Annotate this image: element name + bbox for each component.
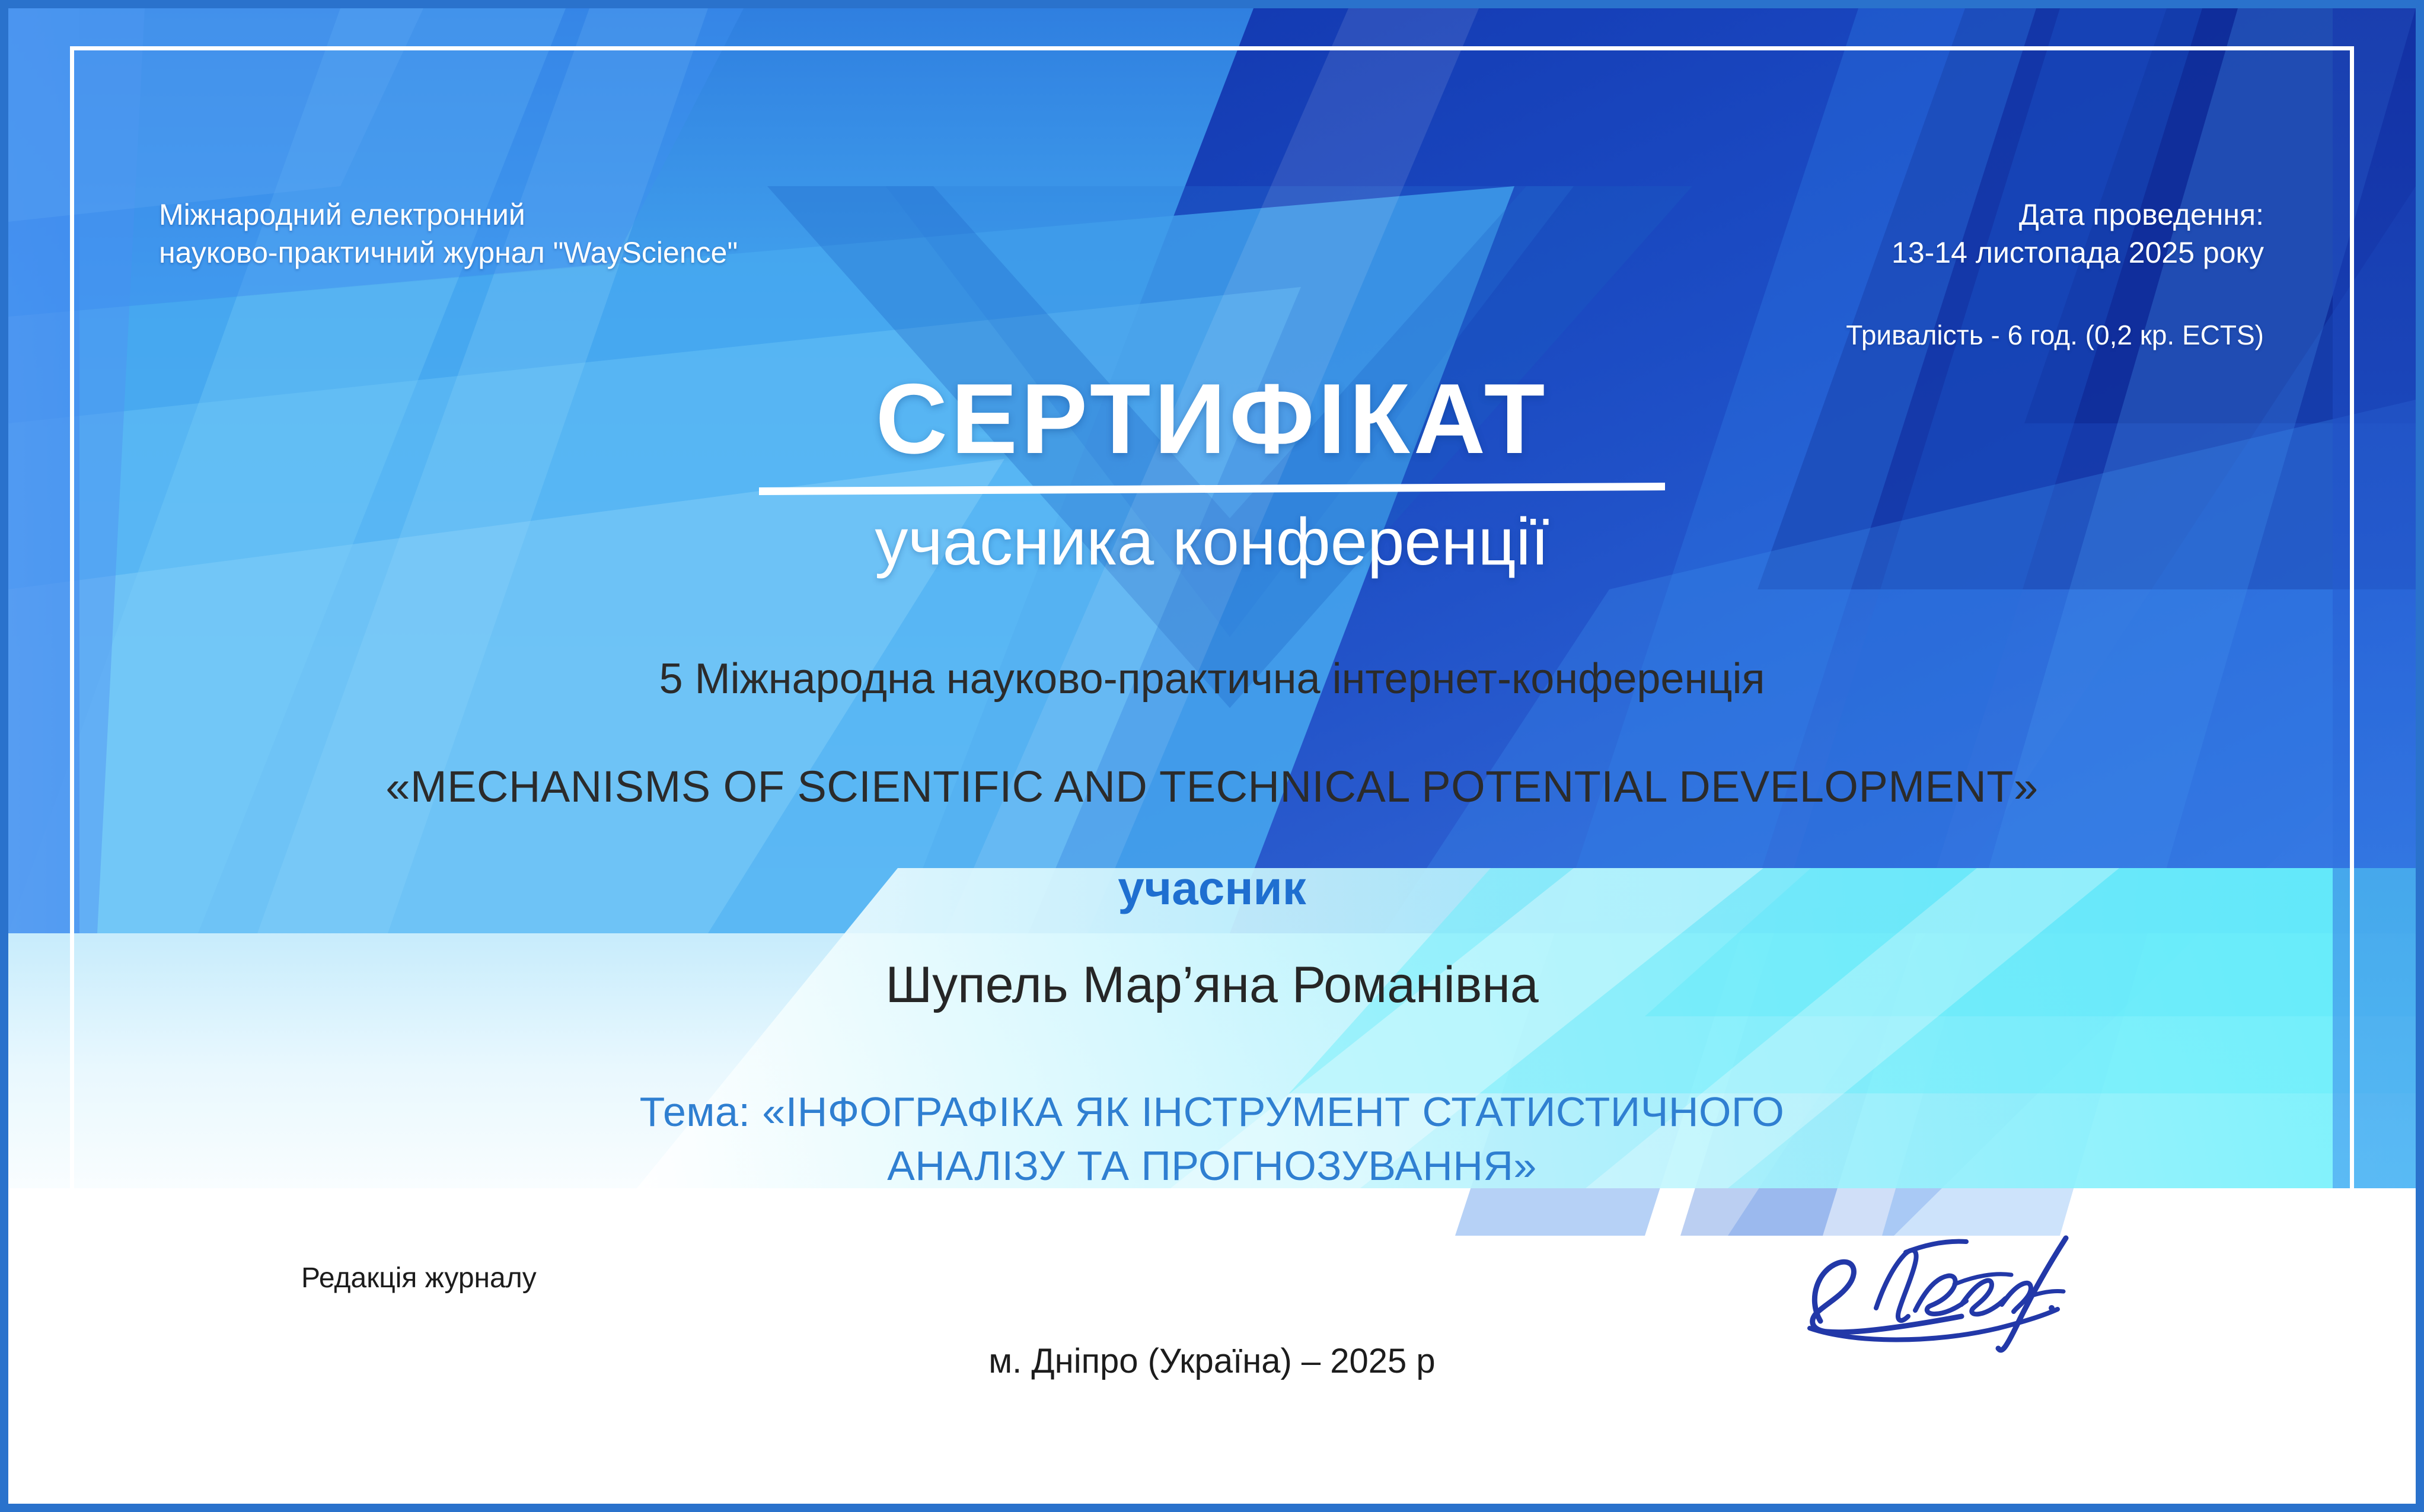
- presentation-topic: Тема: «ІНФОГРАФІКА ЯК ІНСТРУМЕНТ СТАТИСТ…: [0, 1085, 2424, 1193]
- page-title: СЕРТИФІКАТ: [0, 369, 2424, 468]
- certificate-title-block: СЕРТИФІКАТ учасника конференції: [0, 369, 2424, 577]
- certificate-page: Міжнародний електронний науково-практичн…: [0, 0, 2424, 1512]
- event-date: Дата проведення: 13-14 листопада 2025 ро…: [1892, 196, 2264, 272]
- conference-name: «MECHANISMS OF SCIENTIFIC AND TECHNICAL …: [0, 761, 2424, 812]
- conference-edition-line: 5 Міжнародна науково-практична інтернет-…: [0, 655, 2424, 703]
- signature-icon: [1766, 1221, 2133, 1358]
- certificate-subtitle: учасника конференції: [0, 507, 2424, 577]
- editorial-label: Редакція журналу: [301, 1262, 537, 1294]
- participant-name: Шупель Мар’яна Романівна: [0, 956, 2424, 1015]
- event-duration: Тривалість - 6 год. (0,2 кр. ECTS): [1846, 319, 2264, 351]
- title-divider: [759, 483, 1665, 495]
- participant-role: учасник: [0, 861, 2424, 916]
- journal-name: Міжнародний електронний науково-практичн…: [159, 196, 738, 272]
